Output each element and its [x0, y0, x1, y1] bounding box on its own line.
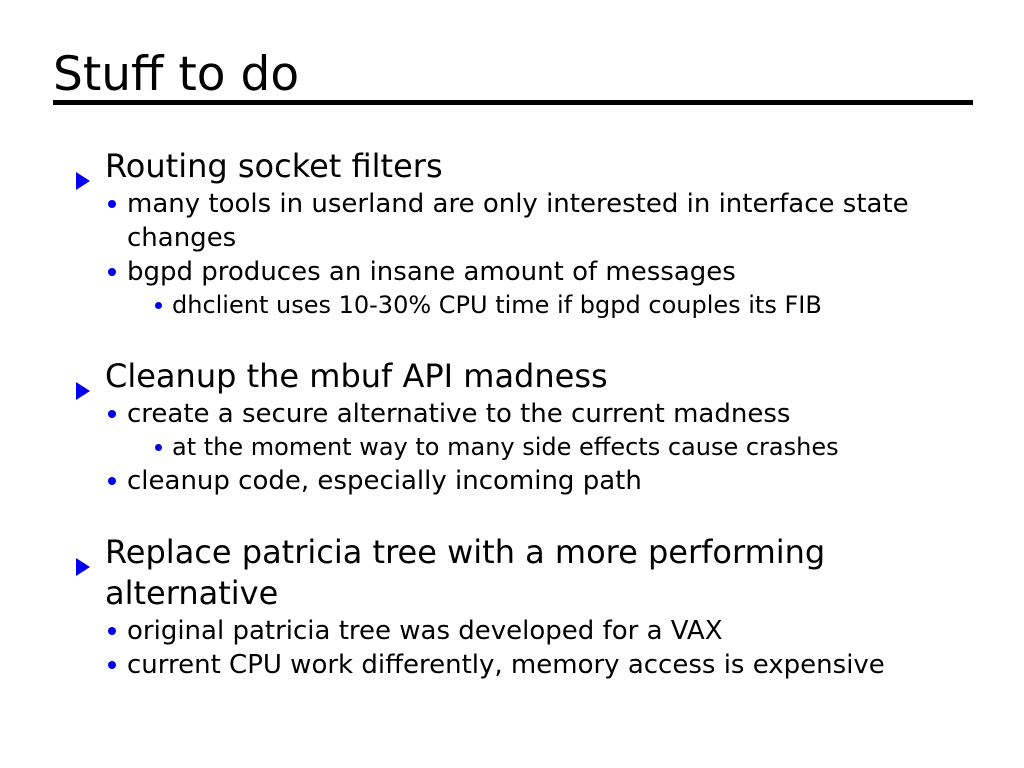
- outline-level2-label: cleanup code, especially incoming path: [127, 464, 927, 498]
- section-spacer: [0, 322, 1024, 356]
- outline-item-level1[interactable]: Replace patricia tree with a more perfor…: [0, 532, 1024, 614]
- outline-level2-label: create a secure alternative to the curre…: [127, 397, 927, 431]
- title-underline-rule: [53, 100, 973, 105]
- triangle-right-icon: [76, 532, 105, 573]
- outline-item-level2[interactable]: original patricia tree was developed for…: [0, 614, 1024, 648]
- outline-level1-label: Routing socket filters: [105, 146, 847, 187]
- outline-item-level2[interactable]: cleanup code, especially incoming path: [0, 464, 1024, 498]
- dot-bullet-icon: [108, 255, 127, 289]
- slide-body: Routing socket filters many tools in use…: [0, 146, 1024, 682]
- outline-item-level3[interactable]: dhclient uses 10-30% CPU time if bgpd co…: [0, 289, 1024, 322]
- outline-level3-label: at the moment way to many side effects c…: [172, 431, 932, 464]
- dot-bullet-icon: [108, 397, 127, 431]
- outline-item-level1[interactable]: Routing socket filters: [0, 146, 1024, 187]
- outline-level2-label: original patricia tree was developed for…: [127, 614, 927, 648]
- slide-canvas: Stuff to do Routing socket filters many …: [0, 0, 1024, 768]
- dot-bullet-icon: [108, 614, 127, 648]
- outline-item-level2[interactable]: many tools in userland are only interest…: [0, 187, 1024, 255]
- outline-item-level2[interactable]: create a secure alternative to the curre…: [0, 397, 1024, 431]
- outline-level2-label: many tools in userland are only interest…: [127, 187, 927, 255]
- outline-item-level2[interactable]: bgpd produces an insane amount of messag…: [0, 255, 1024, 289]
- triangle-right-icon: [76, 146, 105, 187]
- outline-level2-label: current CPU work differently, memory acc…: [127, 648, 927, 682]
- outline-item-level3[interactable]: at the moment way to many side effects c…: [0, 431, 1024, 464]
- outline-item-level1[interactable]: Cleanup the mbuf API madness: [0, 356, 1024, 397]
- outline-level3-label: dhclient uses 10-30% CPU time if bgpd co…: [172, 289, 932, 322]
- outline-level1-label: Cleanup the mbuf API madness: [105, 356, 847, 397]
- slide-title-block: Stuff to do: [53, 48, 973, 102]
- outline-level2-label: bgpd produces an insane amount of messag…: [127, 255, 927, 289]
- dot-bullet-icon: [108, 648, 127, 682]
- dot-bullet-icon: [155, 431, 172, 464]
- outline-level1-label: Replace patricia tree with a more perfor…: [105, 532, 847, 614]
- dot-bullet-icon: [155, 289, 172, 322]
- outline-item-level2[interactable]: current CPU work differently, memory acc…: [0, 648, 1024, 682]
- page-title: Stuff to do: [53, 48, 973, 102]
- dot-bullet-icon: [108, 464, 127, 498]
- section-spacer: [0, 498, 1024, 532]
- triangle-right-icon: [76, 356, 105, 397]
- dot-bullet-icon: [108, 187, 127, 221]
